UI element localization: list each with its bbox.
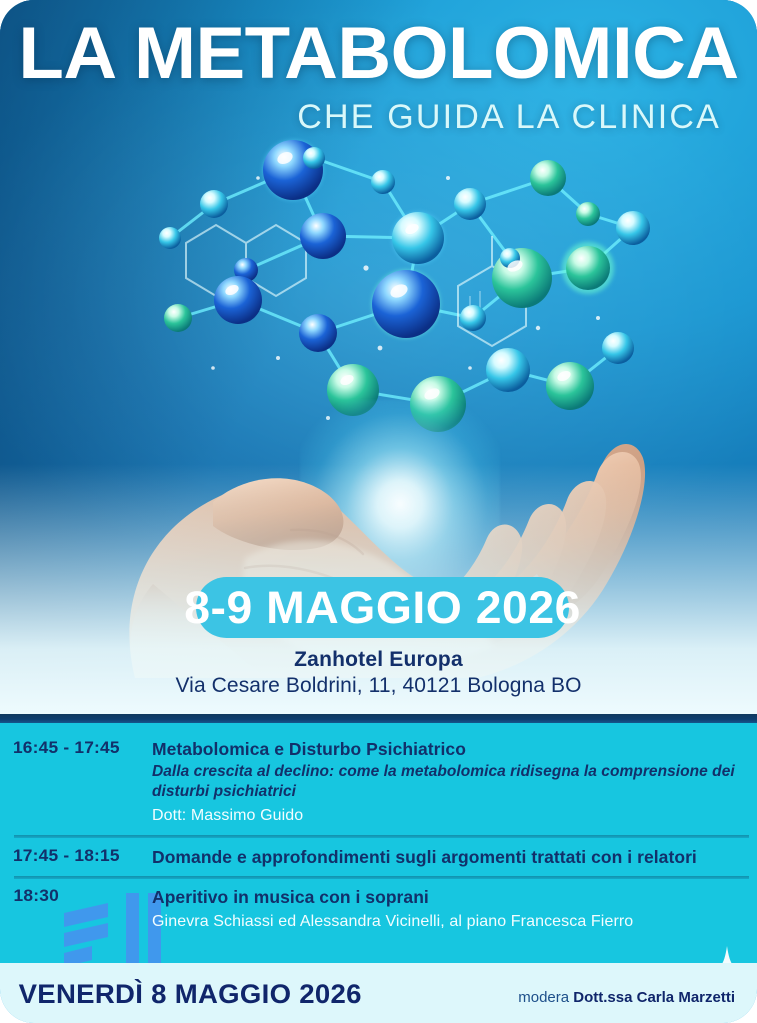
schedule-row-speaker: Dott: Massimo Guido bbox=[152, 805, 744, 826]
footer-moderator: modera Dott.ssa Carla Marzetti bbox=[518, 989, 735, 1006]
footer-moderator-prefix: modera bbox=[518, 989, 573, 1006]
schedule-divider bbox=[14, 835, 749, 838]
schedule-top-bar bbox=[0, 714, 757, 723]
schedule-row-body: Metabolomica e Disturbo Psichiatrico Dal… bbox=[152, 738, 744, 826]
event-date-badge: 8-9 MAGGIO 2026 bbox=[196, 577, 569, 638]
schedule-row-title: Domande e approfondimenti sugli argoment… bbox=[152, 846, 744, 868]
footer-date: VENERDÌ 8 MAGGIO 2026 bbox=[19, 979, 362, 1010]
schedule-row-time: 16:45 - 17:45 bbox=[13, 738, 120, 758]
schedule-row-body: Aperitivo in musica con i soprani Ginevr… bbox=[152, 886, 744, 932]
venue-block: Zanhotel Europa Via Cesare Boldrini, 11,… bbox=[0, 648, 757, 698]
schedule-row-time: 17:45 - 18:15 bbox=[13, 846, 120, 866]
event-poster: LA METABOLOMICA CHE GUIDA LA CLINICA 8-9… bbox=[0, 0, 757, 1023]
schedule-row-time: 18:30 bbox=[14, 886, 59, 906]
schedule-row-title: Aperitivo in musica con i soprani bbox=[152, 886, 744, 908]
schedule-row-body: Domande e approfondimenti sugli argoment… bbox=[152, 846, 744, 868]
venue-name: Zanhotel Europa bbox=[0, 648, 757, 672]
event-date-label: 8-9 MAGGIO 2026 bbox=[184, 582, 581, 634]
schedule-row-subtitle: Dalla crescita al declino: come la metab… bbox=[152, 762, 744, 802]
footer-moderator-name: Dott.ssa Carla Marzetti bbox=[573, 989, 735, 1006]
schedule-row-title: Metabolomica e Disturbo Psichiatrico bbox=[152, 738, 744, 760]
schedule-divider bbox=[14, 876, 749, 879]
schedule-row-speaker: Ginevra Schiassi ed Alessandra Vicinelli… bbox=[152, 911, 744, 932]
footer-bar: VENERDÌ 8 MAGGIO 2026 modera Dott.ssa Ca… bbox=[0, 963, 757, 1023]
page-title: LA METABOLOMICA bbox=[0, 16, 757, 92]
venue-address: Via Cesare Boldrini, 11, 40121 Bologna B… bbox=[0, 674, 757, 698]
page-subtitle: CHE GUIDA LA CLINICA bbox=[297, 98, 721, 137]
